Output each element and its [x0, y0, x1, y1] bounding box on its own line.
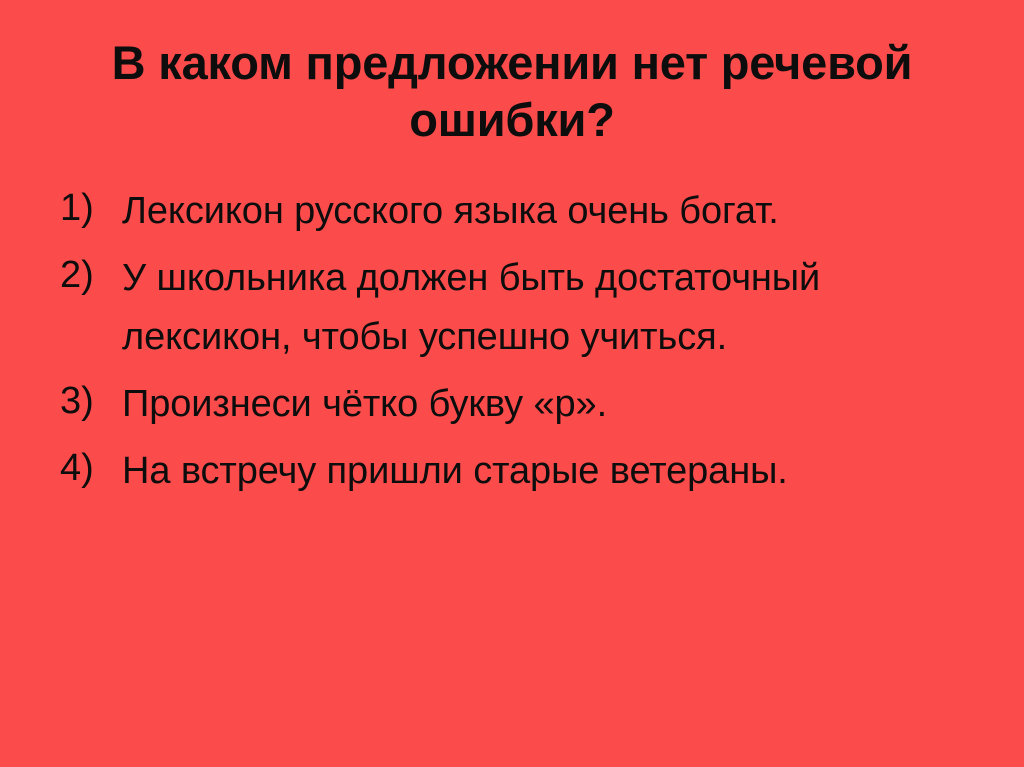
slide-canvas: В каком предложении нет речевой ошибки? … — [0, 0, 1024, 767]
page-title-line-1: В каком предложении нет речевой — [62, 34, 962, 91]
slide-title: В каком предложении нет речевой ошибки? — [62, 34, 962, 148]
answer-option-2[interactable]: 2) У школьника должен быть достаточный л… — [60, 249, 965, 367]
answer-option-1[interactable]: 1) Лексикон русского языка очень богат. — [60, 182, 965, 241]
answer-option-3[interactable]: 3) Произнеси чётко букву «р». — [60, 375, 965, 434]
answer-text-2: У школьника должен быть достаточный лекс… — [122, 249, 912, 367]
answer-text-4: На встречу пришли старые ветераны. — [122, 442, 965, 501]
answer-marker-1: 1) — [60, 182, 122, 234]
answer-marker-2: 2) — [60, 249, 122, 301]
answer-text-1: Лексикон русского языка очень богат. — [122, 182, 965, 241]
page-title-line-2: ошибки? — [62, 91, 962, 148]
answer-text-3: Произнеси чётко букву «р». — [122, 375, 965, 434]
answer-options-list: 1) Лексикон русского языка очень богат. … — [60, 182, 965, 509]
answer-marker-3: 3) — [60, 375, 122, 427]
answer-marker-4: 4) — [60, 442, 122, 494]
answer-option-4[interactable]: 4) На встречу пришли старые ветераны. — [60, 442, 965, 501]
